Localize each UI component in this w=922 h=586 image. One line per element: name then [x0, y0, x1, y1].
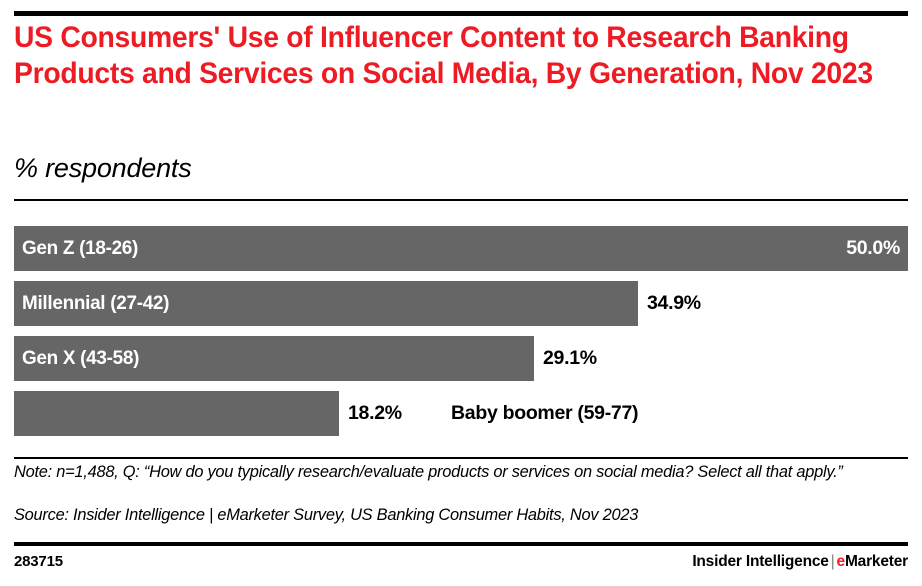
bar-value-label: 34.9%	[647, 281, 701, 326]
top-divider-rule	[14, 11, 908, 16]
chart-source: Source: Insider Intelligence | eMarketer…	[14, 505, 904, 526]
bar-value-label: 29.1%	[543, 336, 597, 381]
chart-page: US Consumers' Use of Influencer Content …	[0, 0, 922, 586]
bar	[14, 226, 908, 271]
chart-id: 283715	[14, 553, 63, 570]
brand-insider-intelligence: Insider Intelligence	[692, 553, 828, 570]
subtitle-divider-rule	[14, 199, 908, 201]
bar-row: Gen X (43-58)29.1%	[14, 336, 908, 381]
bar	[14, 391, 339, 436]
bar-category-label: Gen X (43-58)	[22, 336, 139, 381]
brand-separator: |	[829, 553, 837, 570]
bar-category-label: Millennial (27-42)	[22, 281, 169, 326]
footer-divider-rule	[14, 542, 908, 546]
bar-value-label: 50.0%	[846, 226, 900, 271]
note-divider-rule	[14, 457, 908, 459]
bar-value-label: 18.2%	[348, 391, 402, 436]
brand-lockup: Insider Intelligence|eMarketer	[692, 553, 908, 571]
bar	[14, 336, 534, 381]
bar-row: Millennial (27-42)34.9%	[14, 281, 908, 326]
bar-category-label: Gen Z (18-26)	[22, 226, 138, 271]
bar-category-label: Baby boomer (59-77)	[451, 391, 638, 436]
bar-row: Gen Z (18-26)50.0%	[14, 226, 908, 271]
chart-title: US Consumers' Use of Influencer Content …	[14, 20, 878, 92]
brand-emarketer-rest: Marketer	[845, 553, 908, 570]
brand-emarketer-e: e	[837, 553, 845, 570]
bar-row: Baby boomer (59-77)18.2%	[14, 391, 908, 436]
chart-subtitle: % respondents	[14, 153, 192, 184]
bar	[14, 281, 638, 326]
chart-note: Note: n=1,488, Q: “How do you typically …	[14, 462, 894, 483]
